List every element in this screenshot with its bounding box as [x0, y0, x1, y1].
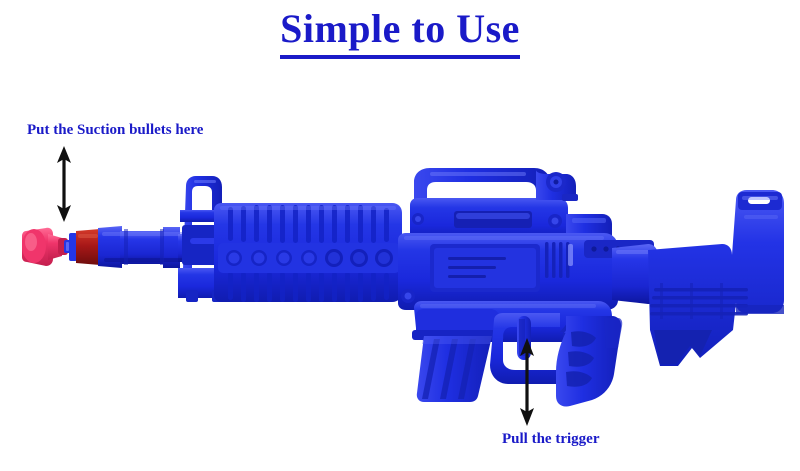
page-title-text: Simple to Use	[280, 6, 520, 59]
magazine	[417, 336, 492, 402]
carry-handle	[410, 168, 568, 242]
callout-label-trigger: Pull the trigger	[502, 430, 599, 448]
barrel	[98, 226, 214, 268]
product-illustration-page: Simple to Use	[0, 0, 800, 471]
pistol-grip	[556, 316, 622, 407]
double-headed-vertical-arrow-trigger	[509, 336, 545, 428]
buffer-tube	[612, 244, 658, 304]
rear-sight	[536, 170, 578, 201]
charging-handle	[566, 214, 612, 246]
front-sight	[178, 176, 230, 302]
page-title: Simple to Use	[0, 6, 800, 59]
upper-receiver	[398, 233, 654, 310]
double-headed-vertical-arrow-suction	[46, 144, 82, 224]
suction-dart	[22, 228, 71, 266]
stock	[648, 190, 784, 366]
muzzle	[69, 229, 100, 265]
handguard-vents	[226, 249, 393, 267]
callout-label-suction-bullets: Put the Suction bullets here	[27, 121, 203, 139]
handguard	[214, 203, 402, 302]
toy-rifle-illustration	[0, 0, 800, 471]
